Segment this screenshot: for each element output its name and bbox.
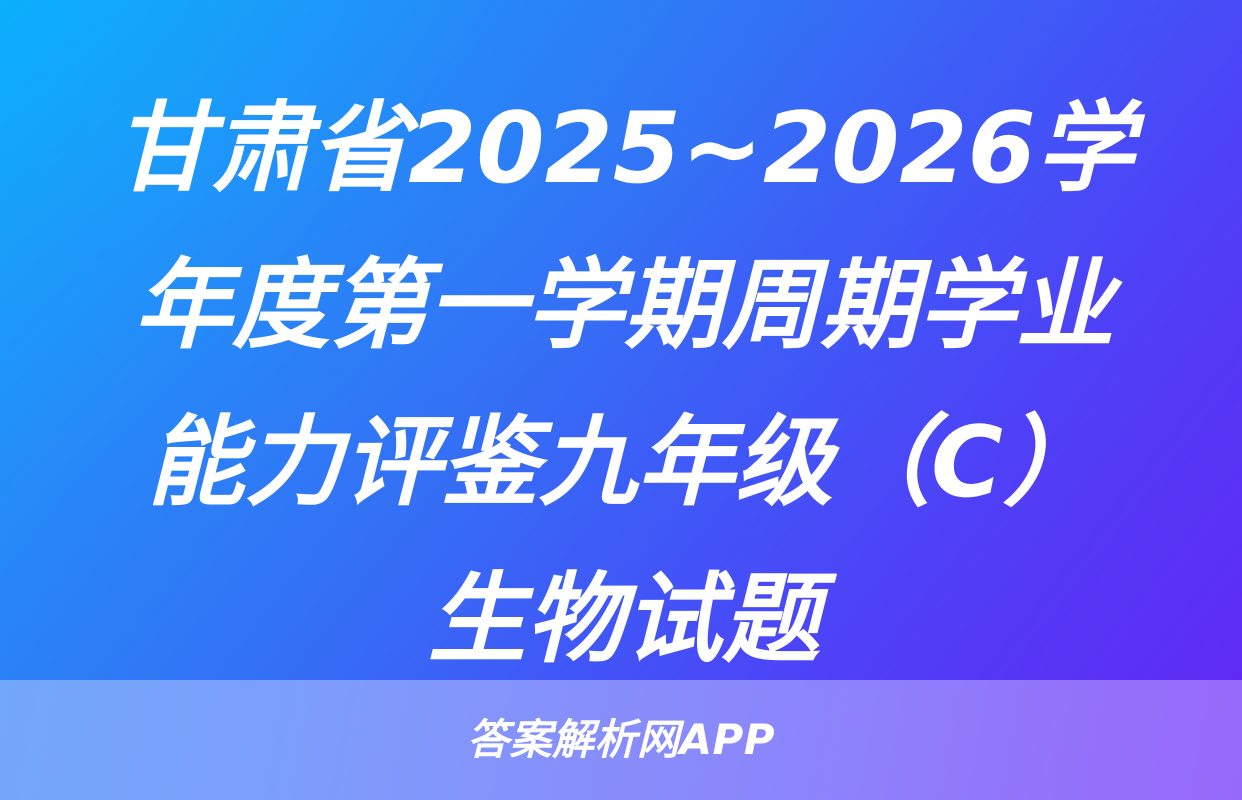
exam-paper-cover: 甘肃省2025~2026学年度第一学期周期学业能力评鉴九年级（C）生物试题 答案…	[0, 0, 1242, 800]
title-container: 甘肃省2025~2026学年度第一学期周期学业能力评鉴九年级（C）生物试题	[101, 100, 1147, 670]
app-watermark-label: 答案解析网APP	[467, 719, 775, 761]
page-title: 甘肃省2025~2026学年度第一学期周期学业能力评鉴九年级（C）生物试题	[101, 71, 1147, 698]
